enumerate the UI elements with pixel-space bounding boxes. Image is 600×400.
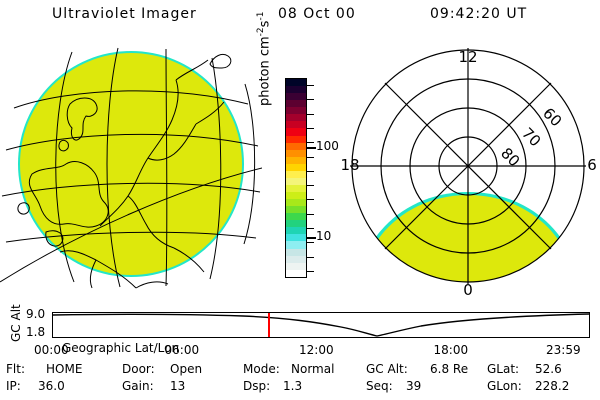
polar-dial-image: 12 6 0 18 80 70 60 (340, 46, 600, 298)
colorbar-band-25 (286, 256, 306, 263)
colorbar-band-26 (286, 263, 306, 270)
colorbar-band-11 (286, 157, 306, 164)
apex-polar-panel[interactable]: 12 6 0 18 80 70 60 Apex MLat/MLT (340, 46, 600, 298)
colorbar-band-17 (286, 199, 306, 206)
polar-mlt-label-18: 18 (340, 156, 359, 174)
colorbar-band-23 (286, 241, 306, 248)
colorbar-band-3 (286, 100, 306, 107)
colorbar-minor-tick (307, 157, 314, 158)
time-tick-label: 18:00 (434, 343, 469, 357)
status-key: Gain: (122, 379, 154, 393)
time-tick-label: 12:00 (299, 343, 334, 357)
status-key: Mode: (243, 362, 280, 376)
colorbar-minor-tick (307, 171, 314, 172)
colorbar-minor-tick (307, 228, 314, 229)
orbit-altitude-trace (53, 313, 589, 337)
colorbar-minor-tick (307, 142, 314, 143)
orbit-time-axis: 00:0006:0012:0018:0023:59 (0, 343, 600, 359)
status-key: IP: (6, 379, 21, 393)
colorbar-band-19 (286, 213, 306, 220)
globe-image (0, 46, 262, 298)
orbit-y-max-label: 9.0 (26, 307, 45, 321)
colorbar-band-9 (286, 143, 306, 150)
colorbar-minor-tick (307, 242, 314, 243)
colorbar-band-20 (286, 220, 306, 227)
time-tick-label: 23:59 (546, 343, 581, 357)
status-value: 1.3 (283, 379, 302, 393)
orbit-plot-box[interactable] (52, 312, 590, 338)
orbit-y-axis-label: GC Alt (6, 309, 24, 339)
colorbar-tick-label-10: 10 (316, 229, 331, 243)
globe-dayglow-disk (20, 53, 242, 275)
status-key: GC Alt: (366, 362, 408, 376)
colorbar-unit-exp1: -2 (256, 27, 266, 36)
colorbar-minor-tick (307, 185, 314, 186)
header-bar: Ultraviolet Imager 08 Oct 00 09:42:20 UT (0, 6, 600, 28)
status-key: GLon: (487, 379, 522, 393)
colorbar-band-12 (286, 164, 306, 171)
colorbar-major-tick-10 (307, 237, 316, 239)
colorbar-gradient (285, 78, 307, 278)
polar-mlt-spokes (350, 48, 586, 284)
colorbar-minor-tick (307, 99, 314, 100)
time-tick-label: 00:00 (34, 343, 69, 357)
status-key: Dsp: (243, 379, 270, 393)
colorbar-panel: photon cm-2s-1 10010 (258, 46, 350, 298)
colorbar-band-27 (286, 270, 306, 277)
status-value: Open (170, 362, 202, 376)
polar-mlat-label-60: 60 (539, 104, 565, 130)
colorbar-minor-tick (307, 257, 314, 258)
colorbar-major-tick-100 (307, 147, 316, 149)
colorbar-band-24 (286, 249, 306, 256)
colorbar-band-5 (286, 114, 306, 121)
colorbar-axis-label: photon cm-2s-1 (256, 0, 272, 106)
orbit-y-min-label: 1.8 (26, 325, 45, 339)
status-value: 39 (406, 379, 421, 393)
colorbar-unit-mid: s (257, 21, 272, 28)
status-readout: Flt:HOMEDoor:OpenMode:NormalGC Alt:6.8 R… (0, 362, 600, 398)
colorbar-band-14 (286, 178, 306, 185)
status-key: Seq: (366, 379, 393, 393)
status-value: 228.2 (535, 379, 569, 393)
colorbar-band-2 (286, 93, 306, 100)
colorbar-tick-label-100: 100 (316, 139, 339, 153)
colorbar-unit-exp2: -1 (256, 12, 266, 21)
colorbar-band-4 (286, 107, 306, 114)
colorbar-ticks (307, 78, 315, 278)
colorbar-band-16 (286, 192, 306, 199)
status-value: 36.0 (38, 379, 65, 393)
geographic-globe-panel[interactable]: Geographic Lat/Lon (0, 46, 262, 298)
colorbar-band-22 (286, 234, 306, 241)
instrument-title: Ultraviolet Imager (52, 6, 197, 22)
colorbar-minor-tick (307, 271, 314, 272)
status-value: 13 (170, 379, 185, 393)
colorbar-band-8 (286, 136, 306, 143)
colorbar-unit-main: photon cm (257, 36, 272, 106)
status-value: Normal (291, 362, 334, 376)
polar-mlt-label-6: 6 (587, 156, 597, 174)
time-tick-label: 06:00 (165, 343, 200, 357)
status-key: Door: (122, 362, 155, 376)
status-value: 6.8 Re (430, 362, 468, 376)
status-key: GLat: (487, 362, 519, 376)
colorbar-minor-tick (307, 128, 314, 129)
orbit-time-marker[interactable] (268, 313, 270, 337)
polar-mlt-label-0: 0 (463, 281, 473, 298)
observation-date: 08 Oct 00 (278, 6, 356, 22)
colorbar-minor-tick (307, 85, 314, 86)
colorbar-band-13 (286, 171, 306, 178)
colorbar-minor-tick (307, 114, 314, 115)
orbit-altitude-panel[interactable]: GC Alt 9.0 1.8 (0, 305, 600, 341)
colorbar-band-0 (286, 79, 306, 86)
observation-time: 09:42:20 UT (430, 6, 527, 22)
polar-mlt-label-12: 12 (458, 48, 477, 66)
colorbar-band-18 (286, 206, 306, 213)
status-value: 52.6 (535, 362, 562, 376)
colorbar-band-7 (286, 128, 306, 135)
colorbar-band-21 (286, 227, 306, 234)
colorbar-band-1 (286, 86, 306, 93)
status-key: Flt: (6, 362, 25, 376)
colorbar-band-15 (286, 185, 306, 192)
colorbar-minor-tick (307, 199, 314, 200)
colorbar-band-10 (286, 150, 306, 157)
colorbar-minor-tick (307, 214, 314, 215)
status-value: HOME (46, 362, 82, 376)
colorbar-band-6 (286, 121, 306, 128)
